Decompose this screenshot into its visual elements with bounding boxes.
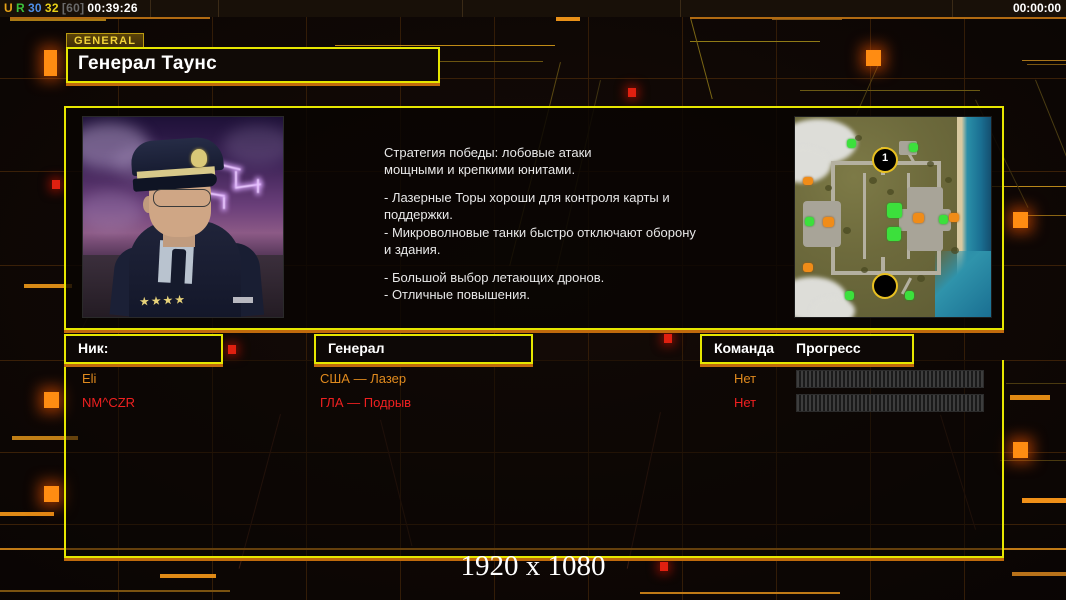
- map-start-position: 1: [872, 147, 898, 173]
- table-row[interactable]: Eli США — Лазер Нет: [66, 368, 1002, 392]
- accent-block: [44, 486, 59, 502]
- status-bar: UR3032[60]00:39:26 00:00:00: [0, 0, 1066, 17]
- column-header-nick-label: Ник:: [66, 336, 221, 356]
- column-header-nick: Ник:: [64, 334, 223, 364]
- map-resource-marker: [805, 217, 814, 226]
- player-team[interactable]: Нет: [734, 395, 756, 410]
- page-title: Генерал Таунс: [66, 47, 440, 83]
- player-nick: NM^CZR: [82, 395, 135, 410]
- stat-num2: 32: [45, 1, 59, 15]
- accent-block-red: [228, 345, 236, 354]
- map-resource-marker: [887, 227, 901, 241]
- map-preview[interactable]: 1: [794, 116, 992, 318]
- map-resource-marker: [847, 139, 856, 148]
- description-paragraph: Стратегия победы: лобовые атаки мощными …: [384, 144, 714, 178]
- stat-num1: 30: [28, 1, 42, 15]
- accent-block: [44, 392, 59, 408]
- player-nick: Eli: [82, 371, 96, 386]
- resource-stats: UR3032[60]00:39:26: [4, 1, 141, 15]
- general-description: Стратегия победы: лобовые атаки мощными …: [384, 144, 714, 314]
- description-paragraph: - Лазерные Торы хороши для контроля карт…: [384, 189, 714, 258]
- general-portrait: ★★★★: [82, 116, 284, 318]
- player-list-panel: Eli США — Лазер Нет NM^CZR ГЛА — Подрыв …: [64, 360, 1004, 558]
- column-header-general: Генерал: [314, 334, 533, 364]
- map-resource-marker: [905, 291, 914, 300]
- map-structure-marker: [803, 263, 813, 272]
- right-clock: 00:00:00: [1013, 1, 1061, 15]
- accent-block: [1013, 442, 1028, 458]
- map-structure-marker: [803, 177, 813, 185]
- map-structure-marker: [949, 213, 959, 222]
- map-structure-marker: [823, 217, 834, 227]
- stat-u: U: [4, 1, 13, 15]
- stat-bracket: [60]: [62, 1, 85, 15]
- table-row[interactable]: NM^CZR ГЛА — Подрыв Нет: [66, 392, 1002, 416]
- title-accent-block: [44, 50, 57, 76]
- session-clock: 00:39:26: [87, 1, 137, 15]
- player-progress-bar: [796, 370, 984, 388]
- player-progress-bar: [796, 394, 984, 412]
- column-header-general-label: Генерал: [316, 336, 531, 356]
- player-general: ГЛА — Подрыв: [320, 395, 411, 410]
- map-resource-marker: [909, 143, 918, 152]
- column-header-team-label: Команда: [714, 340, 774, 356]
- resolution-caption: 1920 x 1080: [0, 550, 1066, 583]
- accent-block-red: [628, 88, 636, 97]
- column-header-team-progress: Команда Прогресс: [700, 334, 914, 364]
- map-start-position: [872, 273, 898, 299]
- accent-block-red: [52, 180, 60, 189]
- page-title-text: Генерал Таунс: [68, 49, 438, 75]
- player-general: США — Лазер: [320, 371, 406, 386]
- stat-r: R: [16, 1, 25, 15]
- player-team[interactable]: Нет: [734, 371, 756, 386]
- map-resource-marker: [845, 291, 854, 300]
- map-structure-marker: [913, 213, 924, 223]
- description-paragraph: - Большой выбор летающих дронов. - Отлич…: [384, 269, 714, 303]
- map-resource-marker: [939, 215, 948, 224]
- accent-block: [866, 50, 881, 66]
- map-resource-marker: [887, 203, 902, 218]
- cap-insignia-icon: [191, 149, 207, 167]
- accent-block: [1013, 212, 1028, 228]
- map-start-position-label: 1: [874, 149, 896, 167]
- column-header-progress-label: Прогресс: [796, 340, 861, 356]
- glasses-icon: [153, 189, 211, 207]
- general-info-panel: ★★★★ Стратегия победы: лобовые атаки мощ…: [64, 106, 1004, 330]
- accent-block-red: [664, 334, 672, 343]
